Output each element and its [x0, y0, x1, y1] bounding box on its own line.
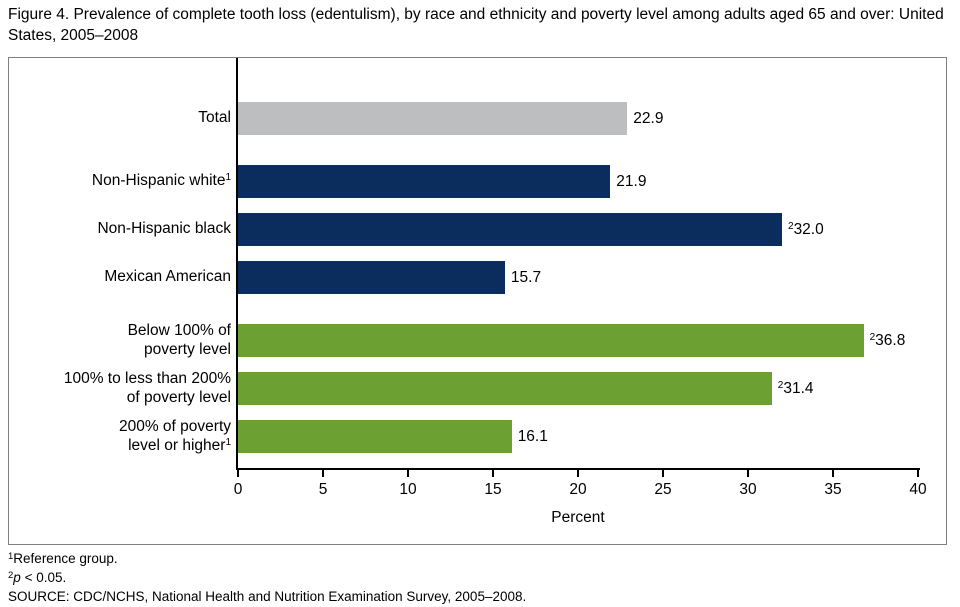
bar-total[interactable]: [238, 102, 627, 135]
x-axis-tick-label: 30: [739, 481, 756, 499]
bar-poverty[interactable]: [238, 324, 864, 357]
x-axis-tick-label: 0: [234, 481, 243, 499]
bar-value-superscript: 2: [778, 380, 784, 391]
category-label-line: level or higher1: [1, 436, 231, 455]
category-label-superscript: 1: [225, 172, 231, 183]
bar-value-superscript: 2: [788, 221, 794, 232]
x-axis-tick-label: 25: [654, 481, 671, 499]
bar-value-label: 231.4: [772, 380, 814, 398]
bar-value-label: 232.0: [782, 221, 824, 239]
x-axis-tick-label: 35: [824, 481, 841, 499]
x-axis-tick: [322, 468, 324, 477]
category-label-column: TotalNon-Hispanic white1Non-Hispanic bla…: [9, 95, 231, 468]
bar-row: 22.9: [238, 102, 918, 135]
x-axis-tick-label: 20: [569, 481, 586, 499]
category-label-line: of poverty level: [1, 388, 231, 407]
category-label-line: poverty level: [1, 340, 231, 359]
category-label: Non-Hispanic white1: [1, 171, 231, 190]
bar-value-label: 236.8: [864, 332, 906, 350]
bar-race[interactable]: [238, 165, 610, 198]
chart-frame: TotalNon-Hispanic white1Non-Hispanic bla…: [8, 57, 947, 545]
x-axis-tick: [747, 468, 749, 477]
bar-value-superscript: 2: [870, 332, 876, 343]
category-label-line: Mexican American: [1, 267, 231, 286]
x-axis-tick: [237, 468, 239, 477]
category-label: 100% to less than 200%of poverty level: [1, 369, 231, 407]
bar-value-label: 22.9: [627, 110, 663, 128]
x-axis-tick: [662, 468, 664, 477]
page-title: Figure 4. Prevalence of complete tooth l…: [8, 4, 952, 46]
category-label-line: Below 100% of: [1, 321, 231, 340]
plot-area: 22.921.9232.015.7236.8231.416.1 05101520…: [238, 95, 918, 468]
category-label: 200% of povertylevel or higher1: [1, 417, 231, 455]
footnote-p-text: < 0.05.: [21, 570, 66, 585]
x-axis-title: Percent: [238, 509, 918, 527]
bar-row: 232.0: [238, 213, 918, 246]
bar-row: 15.7: [238, 261, 918, 294]
category-label: Non-Hispanic black: [1, 219, 231, 238]
x-axis-tick-label: 10: [399, 481, 416, 499]
bar-row: 21.9: [238, 165, 918, 198]
footnotes-block: 1Reference group. 2p < 0.05. SOURCE: CDC…: [8, 549, 948, 606]
category-label-line: Non-Hispanic black: [1, 219, 231, 238]
category-label: Below 100% ofpoverty level: [1, 321, 231, 359]
x-axis-tick: [492, 468, 494, 477]
x-axis-tick-label: 15: [484, 481, 501, 499]
footnote-reference-group: 1Reference group.: [8, 549, 948, 568]
category-label-line: 100% to less than 200%: [1, 369, 231, 388]
x-axis-tick: [832, 468, 834, 477]
category-label: Total: [1, 108, 231, 127]
bar-poverty[interactable]: [238, 372, 772, 405]
x-axis-tick: [577, 468, 579, 477]
category-label-line: 200% of poverty: [1, 417, 231, 436]
x-axis-tick-label: 40: [909, 481, 926, 499]
bar-race[interactable]: [238, 213, 782, 246]
category-label-line: Total: [1, 108, 231, 127]
footnote-p-symbol: p: [13, 570, 21, 585]
bar-poverty[interactable]: [238, 420, 512, 453]
x-axis-tick: [407, 468, 409, 477]
category-label-line: Non-Hispanic white1: [1, 171, 231, 190]
category-label: Mexican American: [1, 267, 231, 286]
bar-row: 236.8: [238, 324, 918, 357]
bar-value-label: 16.1: [512, 428, 548, 446]
footnote-source: SOURCE: CDC/NCHS, National Health and Nu…: [8, 587, 948, 606]
bar-value-label: 15.7: [505, 269, 541, 287]
x-axis-tick-label: 5: [319, 481, 328, 499]
bar-row: 231.4: [238, 372, 918, 405]
bar-value-label: 21.9: [610, 173, 646, 191]
bar-race[interactable]: [238, 261, 505, 294]
x-axis-tick: [917, 468, 919, 477]
footnote-reference-text: Reference group.: [13, 551, 117, 566]
bar-row: 16.1: [238, 420, 918, 453]
footnote-pvalue: 2p < 0.05.: [8, 568, 948, 587]
category-label-superscript: 1: [225, 437, 231, 448]
